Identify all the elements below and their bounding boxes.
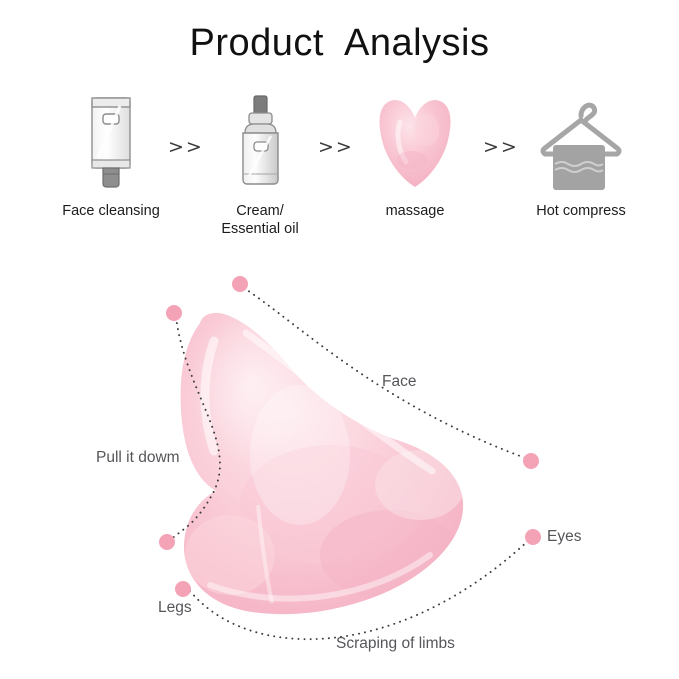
callout-dot-pull-it-down — [159, 534, 175, 550]
callout-label-scraping-of-limbs: Scraping of limbs — [336, 635, 455, 653]
process-step-cream-essential-oil: Cream/ Essential oil — [185, 88, 335, 238]
callout-label-face: Face — [382, 373, 416, 391]
face-cleanser-tube-icon — [36, 88, 186, 198]
essential-oil-bottle-icon — [185, 88, 335, 198]
process-step-massage: massage — [340, 88, 490, 220]
callout-dot-face — [523, 453, 539, 469]
process-step-label: massage — [340, 202, 490, 220]
product-callout-diagram: Face Eyes Pull it dowm Legs Scraping of … — [0, 255, 679, 679]
process-row: Face cleansing >> — [0, 88, 679, 248]
process-step-label: Hot compress — [506, 202, 656, 220]
page-title: Product Analysis — [0, 22, 679, 65]
product-analysis-infographic: Product Analysis — [0, 0, 679, 679]
towel-hanger-icon — [506, 88, 656, 198]
process-step-label: Face cleansing — [36, 202, 186, 220]
callout-label-pull-it-down: Pull it dowm — [96, 449, 180, 467]
process-step-face-cleansing: Face cleansing — [36, 88, 186, 220]
callout-dot-face-top — [232, 276, 248, 292]
callout-label-eyes: Eyes — [547, 528, 581, 546]
callout-dot-pull-it-down-top — [166, 305, 182, 321]
gua-sha-stone-icon — [340, 88, 490, 198]
process-step-hot-compress: Hot compress — [506, 88, 656, 220]
callout-dot-legs — [175, 581, 191, 597]
gua-sha-stone-large — [181, 305, 465, 614]
callout-dot-eyes — [525, 529, 541, 545]
callout-label-legs: Legs — [158, 599, 192, 617]
process-step-label: Cream/ Essential oil — [185, 202, 335, 238]
